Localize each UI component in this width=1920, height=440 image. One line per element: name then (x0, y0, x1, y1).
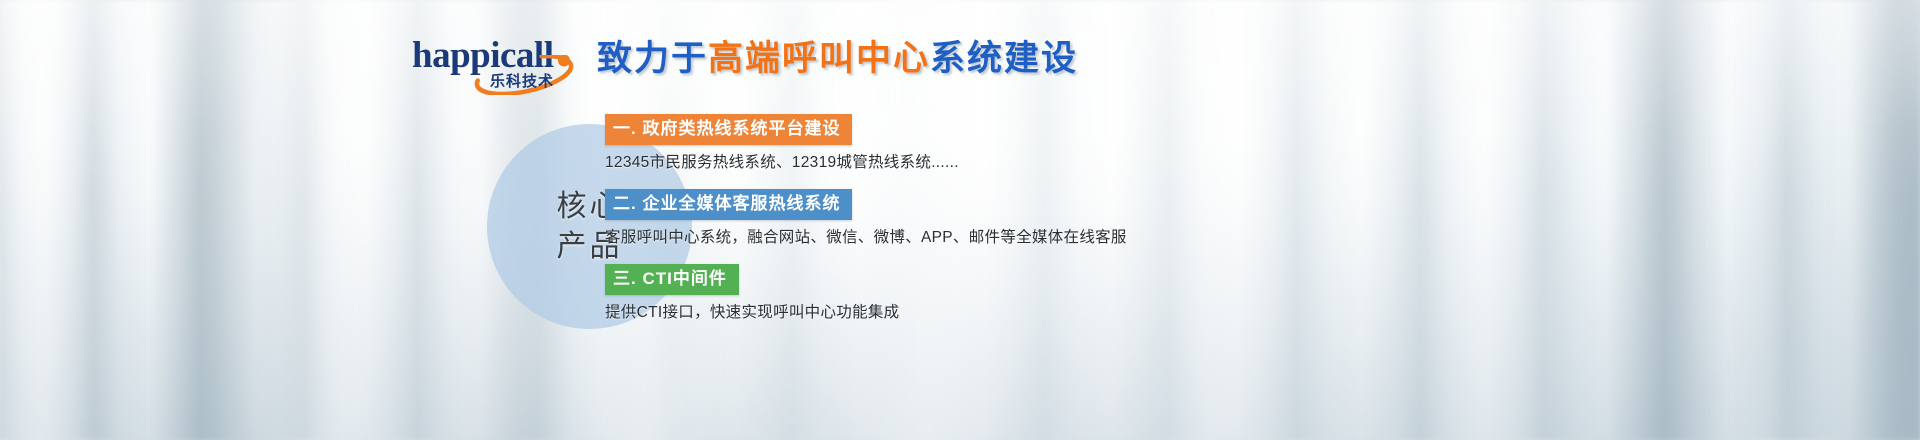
brand-logo[interactable]: happicall 乐科技术 (412, 37, 592, 95)
product-item-3[interactable]: 三. CTI中间件 提供CTI接口，快速实现呼叫中心功能集成 (605, 264, 1305, 323)
logo-sub-text: 乐科技术 (490, 74, 554, 89)
product-item-3-desc: 提供CTI接口，快速实现呼叫中心功能集成 (605, 302, 1305, 324)
product-item-2[interactable]: 二. 企业全媒体客服热线系统 客服呼叫中心系统，融合网站、微信、微博、APP、邮… (605, 189, 1305, 248)
product-list: 一. 政府类热线系统平台建设 12345市民服务热线系统、12319城管热线系统… (605, 114, 1305, 324)
product-item-3-title: 三. CTI中间件 (605, 264, 739, 295)
product-item-2-title: 二. 企业全媒体客服热线系统 (605, 189, 852, 220)
product-item-1-title: 一. 政府类热线系统平台建设 (605, 114, 852, 145)
headline-segment-2: 高端呼叫中心 (708, 39, 930, 78)
page-title: 致力于高端呼叫中心系统建设 (597, 38, 1078, 80)
product-item-1-desc: 12345市民服务热线系统、12319城管热线系统...... (605, 152, 1305, 174)
promo-banner: 核心 产品 happicall 乐科技术 致力于高端呼叫中心系统建设 一. 政府… (0, 0, 1920, 440)
headline-segment-1: 致力于 (597, 39, 708, 78)
logo-wordmark: happicall (412, 37, 554, 74)
headline-segment-3: 系统建设 (930, 39, 1078, 78)
product-item-2-desc: 客服呼叫中心系统，融合网站、微信、微博、APP、邮件等全媒体在线客服 (605, 227, 1305, 249)
product-item-1[interactable]: 一. 政府类热线系统平台建设 12345市民服务热线系统、12319城管热线系统… (605, 114, 1305, 173)
